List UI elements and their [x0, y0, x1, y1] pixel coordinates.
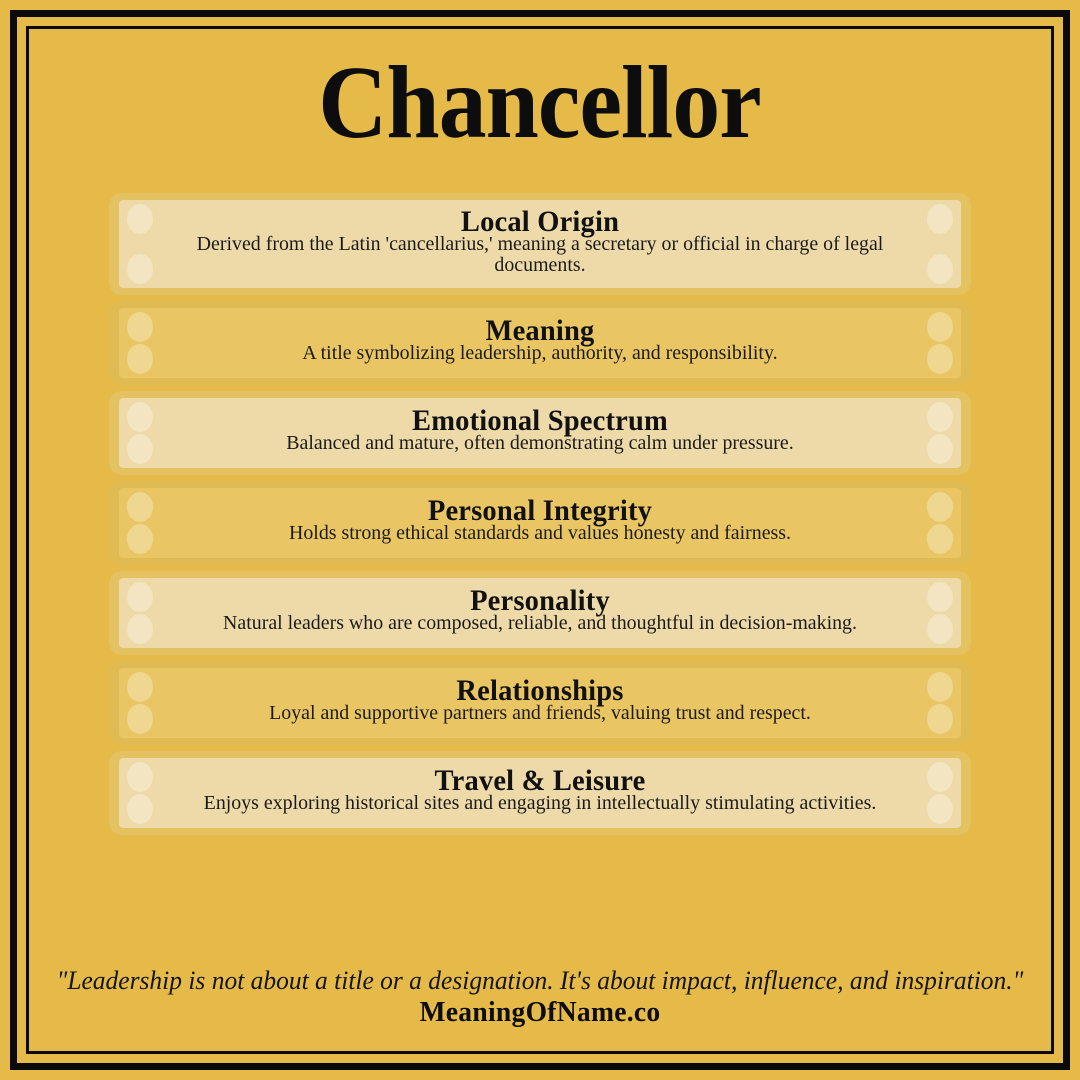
- attribute-card: Local Origin Derived from the Latin 'can…: [109, 193, 971, 295]
- attribute-card-description: Holds strong ethical standards and value…: [176, 523, 904, 544]
- attribute-card-description: Enjoys exploring historical sites and en…: [176, 793, 904, 814]
- attribute-card-inner: Local Origin Derived from the Latin 'can…: [119, 200, 961, 288]
- corner-highlight-icon: [127, 524, 153, 554]
- corner-highlight-icon: [927, 254, 953, 284]
- attribute-card: Personal Integrity Holds strong ethical …: [109, 481, 971, 565]
- attribute-card-description: Loyal and supportive partners and friend…: [176, 703, 904, 724]
- attribute-card-inner: Personal Integrity Holds strong ethical …: [119, 488, 961, 558]
- corner-highlight-icon: [927, 672, 953, 702]
- corner-highlight-icon: [127, 672, 153, 702]
- corner-highlight-icon: [127, 614, 153, 644]
- corner-highlight-icon: [927, 524, 953, 554]
- poster: Chancellor Local Origin Derived from the…: [0, 0, 1080, 1080]
- corner-highlight-icon: [127, 794, 153, 824]
- corner-highlight-icon: [927, 204, 953, 234]
- attribute-card: Relationships Loyal and supportive partn…: [109, 661, 971, 745]
- corner-highlight-icon: [127, 704, 153, 734]
- corner-highlight-icon: [127, 254, 153, 284]
- attribute-card-description: Natural leaders who are composed, reliab…: [176, 613, 904, 634]
- corner-highlight-icon: [927, 344, 953, 374]
- attribute-card-description: Derived from the Latin 'cancellarius,' m…: [176, 234, 904, 276]
- brand-name: MeaningOfName.co: [60, 996, 1020, 1029]
- corner-highlight-icon: [127, 434, 153, 464]
- attribute-card-list: Local Origin Derived from the Latin 'can…: [109, 193, 971, 835]
- corner-highlight-icon: [927, 492, 953, 522]
- attribute-card-description: Balanced and mature, often demonstrating…: [176, 433, 904, 454]
- attribute-card: Personality Natural leaders who are comp…: [109, 571, 971, 655]
- corner-highlight-icon: [927, 794, 953, 824]
- corner-highlight-icon: [127, 344, 153, 374]
- corner-highlight-icon: [927, 434, 953, 464]
- corner-highlight-icon: [927, 312, 953, 342]
- attribute-card: Meaning A title symbolizing leadership, …: [109, 301, 971, 385]
- footer-quote: "Leadership is not about a title or a de…: [45, 967, 1035, 995]
- corner-highlight-icon: [927, 582, 953, 612]
- attribute-card-inner: Meaning A title symbolizing leadership, …: [119, 308, 961, 378]
- corner-highlight-icon: [927, 614, 953, 644]
- attribute-card-inner: Travel & Leisure Enjoys exploring histor…: [119, 758, 961, 828]
- corner-highlight-icon: [127, 402, 153, 432]
- corner-highlight-icon: [927, 704, 953, 734]
- attribute-card-inner: Emotional Spectrum Balanced and mature, …: [119, 398, 961, 468]
- corner-highlight-icon: [127, 204, 153, 234]
- corner-highlight-icon: [127, 582, 153, 612]
- attribute-card-description: A title symbolizing leadership, authorit…: [176, 343, 904, 364]
- page-title: Chancellor: [319, 51, 762, 155]
- corner-highlight-icon: [127, 762, 153, 792]
- corner-highlight-icon: [127, 492, 153, 522]
- attribute-card: Emotional Spectrum Balanced and mature, …: [109, 391, 971, 475]
- corner-highlight-icon: [927, 402, 953, 432]
- poster-content: Chancellor Local Origin Derived from the…: [29, 29, 1051, 1051]
- attribute-card: Travel & Leisure Enjoys exploring histor…: [109, 751, 971, 835]
- corner-highlight-icon: [927, 762, 953, 792]
- corner-highlight-icon: [127, 312, 153, 342]
- attribute-card-inner: Relationships Loyal and supportive partn…: [119, 668, 961, 738]
- footer: "Leadership is not about a title or a de…: [35, 967, 1045, 1029]
- attribute-card-inner: Personality Natural leaders who are comp…: [119, 578, 961, 648]
